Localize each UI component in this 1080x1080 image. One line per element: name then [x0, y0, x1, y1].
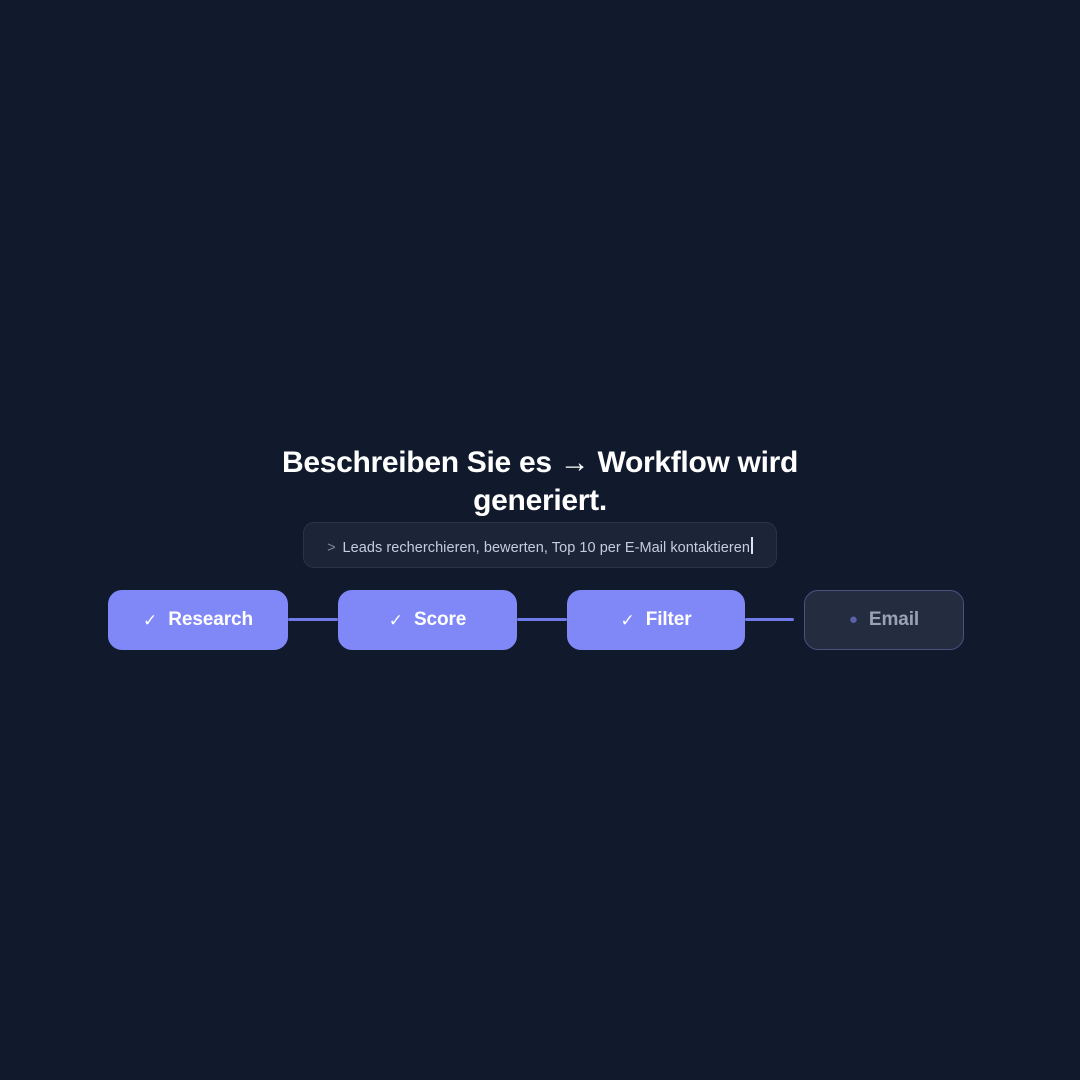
text-caret [751, 537, 753, 554]
workflow-node-research[interactable]: ✓Research [108, 590, 288, 650]
hero-section: Beschreiben Sie es → Workflow wird gener… [0, 0, 1080, 1080]
check-icon: ✓ [620, 612, 634, 629]
workflow-connector-3 [745, 618, 794, 621]
page-title: Beschreiben Sie es → Workflow wird gener… [240, 444, 840, 520]
prompt-input-content: > Leads recherchieren, bewerten, Top 10 … [327, 535, 753, 556]
workflow-node-email[interactable]: ●Email [804, 590, 964, 650]
prompt-input-value: Leads recherchieren, bewerten, Top 10 pe… [343, 540, 750, 556]
workflow-node-score[interactable]: ✓Score [338, 590, 517, 650]
dot-icon: ● [849, 612, 858, 627]
workflow-node-label: Filter [646, 609, 692, 631]
workflow-pipeline: ✓Research✓Score✓Filter●Email [0, 590, 1080, 650]
workflow-node-label: Research [168, 609, 253, 631]
workflow-connector-1 [288, 618, 338, 621]
prompt-input[interactable]: > Leads recherchieren, bewerten, Top 10 … [303, 522, 777, 568]
workflow-connector-2 [517, 618, 567, 621]
check-icon: ✓ [143, 612, 157, 629]
prompt-chevron-icon: > [327, 540, 335, 556]
workflow-node-label: Email [869, 609, 919, 631]
workflow-node-filter[interactable]: ✓Filter [567, 590, 745, 650]
workflow-node-label: Score [414, 609, 466, 631]
check-icon: ✓ [389, 612, 403, 629]
